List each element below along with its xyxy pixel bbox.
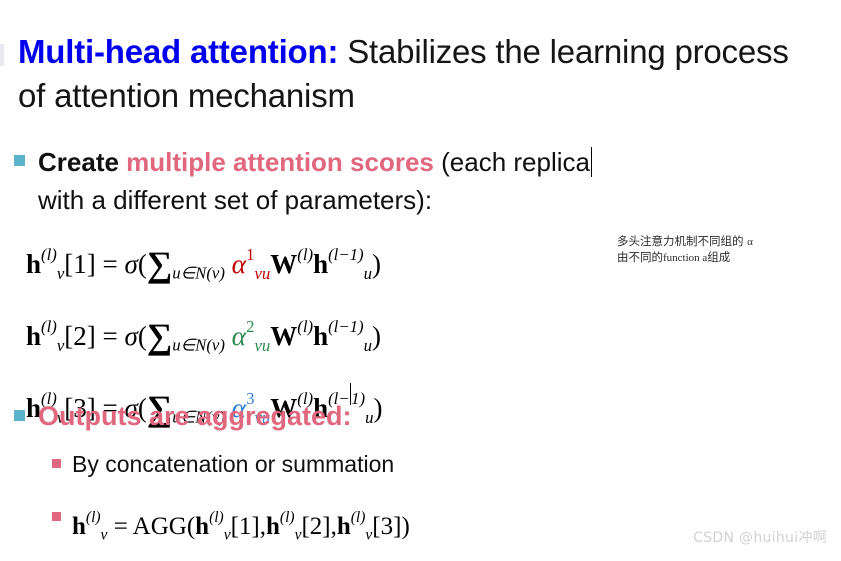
agg-t3-idx: [3] (372, 513, 401, 540)
eq2-w-sup: (l) (297, 317, 313, 336)
chinese-annotation-line2-a: 由不同的 (617, 250, 663, 264)
chinese-annotation-line2-b: 组成 (707, 250, 730, 264)
eq1-sum-sub: u∈N(v) (172, 263, 225, 282)
eq1-alpha-sub: vu (254, 264, 270, 283)
eq1-alpha-sup: 1 (246, 245, 254, 264)
eq1-sum: ∑ (147, 244, 172, 284)
eq2-alpha-sup: 2 (246, 317, 254, 336)
eq1-rhs-sub: u (364, 264, 372, 283)
agg-t1-sub: v (224, 527, 231, 544)
agg-t1-h: h (195, 513, 209, 540)
bullet-square-icon (52, 512, 61, 521)
equation-head-2: h(l)v[2] = σ(∑u∈N(v) α2vuW(l)h(l−1)u) (26, 300, 586, 372)
bullet-agg-equation: h(l)v = AGG(h(l)v[1],h(l)v[2],h(l)v[3]) (52, 496, 752, 558)
agg-t2-h: h (266, 513, 280, 540)
bullet-create-line2: with a different set of parameters): (38, 185, 432, 215)
eq2-sum-sub: u∈N(v) (172, 335, 225, 354)
eq2-index: [2] (64, 321, 95, 351)
agg-equals: = (114, 513, 128, 540)
agg-lhs-sub: v (101, 527, 108, 544)
bullet-create-tail: (each replica (434, 147, 590, 177)
bullet-create-lead: Create (38, 147, 126, 177)
eq2-alpha: α (232, 320, 246, 351)
eq1-h-sup: (l) (41, 245, 57, 264)
agg-lhs-sup: (l) (86, 509, 101, 526)
eq1-alpha: α (232, 248, 246, 279)
agg-label: AGG (133, 513, 187, 540)
page-title: Multi-head attention: Stabilizes the lea… (18, 30, 818, 118)
eq2-equals: = (103, 321, 118, 351)
chinese-annotation-line2-latin: function a (663, 252, 707, 264)
eq1-sigma: σ (124, 249, 137, 279)
bullet-square-icon (52, 459, 61, 468)
equation-agg: h(l)v = AGG(h(l)v[1],h(l)v[2],h(l)v[3]) (72, 496, 410, 558)
eq1-equals: = (103, 249, 118, 279)
agg-close: ) (401, 513, 409, 540)
bullet-by-concatenation: By concatenation or summation (52, 448, 652, 480)
chinese-annotation-line2: 由不同的function a组成 (617, 250, 753, 266)
agg-t1-idx: [1], (231, 513, 266, 540)
eq2-sum: ∑ (147, 316, 172, 356)
bullet-create-highlight: multiple attention scores (126, 147, 434, 177)
chinese-annotation-line1-text: 多头注意力机制不同组的 (617, 234, 747, 248)
agg-t3-sup: (l) (351, 509, 366, 526)
page-title-accent: Multi-head attention: (18, 33, 338, 70)
bullet-outputs-text: Outputs are aggregated: (38, 398, 352, 434)
left-edge-artifact (0, 44, 4, 66)
eq2-rhs-sub: u (364, 336, 372, 355)
bullet-square-icon (14, 155, 25, 166)
bullet-outputs-aggregated: Outputs are aggregated: (14, 398, 614, 434)
eq2-rhs-h: h (313, 321, 328, 351)
eq2-w: W (270, 321, 297, 351)
eq1-w-sup: (l) (297, 245, 313, 264)
eq2-alpha-sub: vu (254, 336, 270, 355)
chinese-annotation-alpha: α (747, 236, 753, 248)
eq1-rhs-h: h (313, 249, 328, 279)
eq2-close: ) (372, 321, 381, 351)
agg-open: ( (187, 513, 195, 540)
agg-t1-sup: (l) (209, 509, 224, 526)
eq2-rhs-sup: (l−1) (328, 317, 363, 336)
eq2-h-sup: (l) (41, 317, 57, 336)
csdn-watermark: CSDN @huihui冲啊 (693, 527, 827, 547)
eq1-w: W (270, 249, 297, 279)
agg-t2-idx: [2], (301, 513, 336, 540)
eq2-open: ( (138, 321, 147, 351)
eq2-h: h (26, 321, 41, 351)
eq1-index: [1] (64, 249, 95, 279)
agg-t3-h: h (337, 513, 351, 540)
chinese-annotation-line1: 多头注意力机制不同组的 α (617, 234, 753, 250)
equation-head-1: h(l)v[1] = σ(∑u∈N(v) α1vuW(l)h(l−1)u) (26, 228, 586, 300)
bullet-square-icon (14, 410, 25, 421)
agg-lhs-h: h (72, 513, 86, 540)
eq2-sigma: σ (124, 321, 137, 351)
chinese-annotation: 多头注意力机制不同组的 α 由不同的function a组成 (617, 234, 753, 266)
eq1-open: ( (138, 249, 147, 279)
text-caret (591, 147, 592, 177)
bullet-create-attention-scores: Create multiple attention scores (each r… (14, 143, 804, 219)
agg-t2-sup: (l) (280, 509, 295, 526)
eq1-h: h (26, 249, 41, 279)
eq1-rhs-sup: (l−1) (328, 245, 363, 264)
eq1-close: ) (372, 249, 381, 279)
bullet-create-text: Create multiple attention scores (each r… (38, 143, 592, 219)
bullet-concatenation-text: By concatenation or summation (72, 448, 394, 480)
